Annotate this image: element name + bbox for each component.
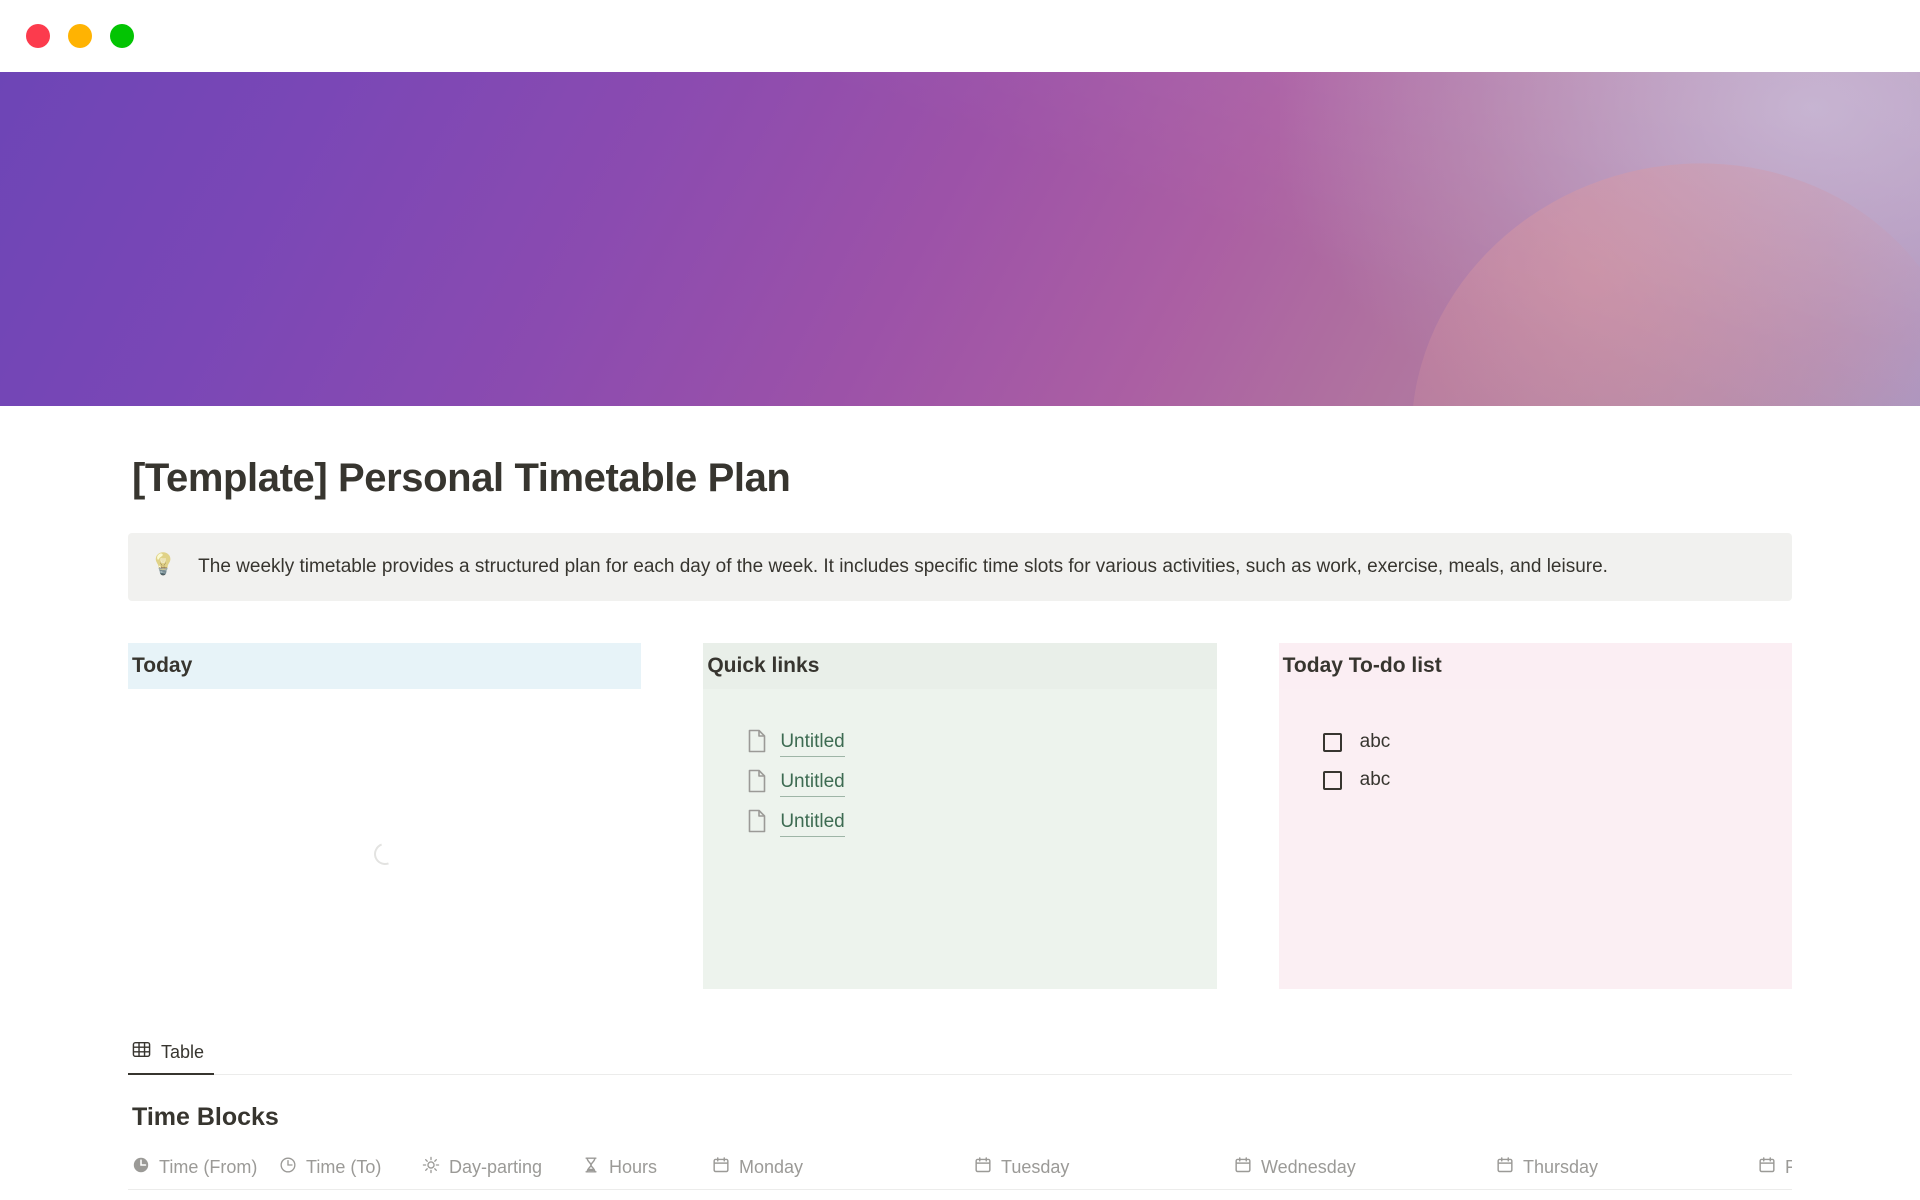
list-item-label[interactable]: Untitled bbox=[780, 810, 844, 837]
maximize-button[interactable] bbox=[110, 24, 134, 48]
calendar-icon bbox=[1758, 1156, 1776, 1179]
column-header-label: Time (From) bbox=[159, 1157, 257, 1178]
table-header-row: Time (From) Time (To) bbox=[128, 1146, 1792, 1190]
panel-todo-list-body: abc abc bbox=[1279, 689, 1792, 989]
loading-spinner-icon bbox=[370, 840, 399, 869]
calendar-icon bbox=[712, 1156, 730, 1179]
page-icon bbox=[747, 809, 767, 838]
column-header-label: Hours bbox=[609, 1157, 657, 1178]
banner-sheen bbox=[0, 72, 1920, 406]
sun-icon bbox=[422, 1156, 440, 1179]
hourglass-icon bbox=[582, 1156, 600, 1179]
column-header-thursday[interactable]: Thursday bbox=[1496, 1156, 1758, 1179]
list-item-label[interactable]: abc bbox=[1360, 769, 1391, 791]
database-tabbar: Table bbox=[128, 1033, 1792, 1075]
panel-quick-links-body: Untitled Untitled bbox=[703, 689, 1216, 989]
calendar-icon bbox=[1496, 1156, 1514, 1179]
tab-table-label: Table bbox=[161, 1042, 204, 1063]
dashboard-panels: Today Quick links bbox=[128, 643, 1792, 989]
page-cover-banner[interactable] bbox=[0, 72, 1920, 406]
lightbulb-icon: 💡 bbox=[150, 554, 176, 575]
column-header-label: Day-parting bbox=[449, 1157, 542, 1178]
column-header-label: Tuesday bbox=[1001, 1157, 1069, 1178]
page-title[interactable]: [Template] Personal Timetable Plan bbox=[128, 456, 1792, 501]
panel-today-body[interactable] bbox=[128, 689, 641, 989]
list-item[interactable]: abc bbox=[1279, 723, 1792, 761]
column-header-label: Monday bbox=[739, 1157, 803, 1178]
minimize-button[interactable] bbox=[68, 24, 92, 48]
tab-table[interactable]: Table bbox=[128, 1040, 214, 1074]
panel-today-title[interactable]: Today bbox=[128, 643, 641, 689]
calendar-icon bbox=[1234, 1156, 1252, 1179]
column-header-label: Friday bbox=[1785, 1157, 1792, 1178]
page-icon bbox=[747, 769, 767, 798]
calendar-icon bbox=[974, 1156, 992, 1179]
list-item-label[interactable]: Untitled bbox=[780, 770, 844, 797]
close-button[interactable] bbox=[26, 24, 50, 48]
list-item[interactable]: Untitled bbox=[703, 723, 1216, 763]
callout-text: The weekly timetable provides a structur… bbox=[198, 553, 1608, 581]
table-icon bbox=[132, 1040, 151, 1064]
panel-quick-links-title[interactable]: Quick links bbox=[703, 643, 1216, 689]
column-header-day-parting[interactable]: Day-parting bbox=[422, 1156, 582, 1179]
column-header-time-from[interactable]: Time (From) bbox=[132, 1156, 279, 1179]
list-item-label[interactable]: abc bbox=[1360, 731, 1391, 753]
banner-highlight-bottom-right bbox=[1356, 105, 1920, 406]
list-item[interactable]: Untitled bbox=[703, 763, 1216, 803]
column-header-wednesday[interactable]: Wednesday bbox=[1234, 1156, 1496, 1179]
checkbox[interactable] bbox=[1323, 771, 1342, 790]
banner-highlight-top-right bbox=[1280, 72, 1920, 406]
database-block: Table Time Blocks Time (From) bbox=[128, 1033, 1792, 1190]
column-header-label: Thursday bbox=[1523, 1157, 1598, 1178]
window-controls bbox=[26, 24, 134, 48]
panel-today: Today bbox=[128, 643, 641, 989]
column-header-monday[interactable]: Monday bbox=[712, 1156, 974, 1179]
column-header-label: Wednesday bbox=[1261, 1157, 1356, 1178]
page-icon bbox=[747, 729, 767, 758]
list-item[interactable]: abc bbox=[1279, 761, 1792, 799]
panel-todo-list-title[interactable]: Today To-do list bbox=[1279, 643, 1792, 689]
column-header-friday[interactable]: Friday bbox=[1758, 1156, 1792, 1179]
column-header-hours[interactable]: Hours bbox=[582, 1156, 712, 1179]
window-titlebar bbox=[0, 0, 1920, 72]
list-item[interactable]: Untitled bbox=[703, 803, 1216, 843]
column-header-tuesday[interactable]: Tuesday bbox=[974, 1156, 1234, 1179]
page-body: [Template] Personal Timetable Plan 💡 The… bbox=[0, 456, 1920, 1190]
column-header-time-to[interactable]: Time (To) bbox=[279, 1156, 422, 1179]
clock-outline-icon bbox=[279, 1156, 297, 1179]
panel-todo-list: Today To-do list abc abc bbox=[1279, 643, 1792, 989]
clock-filled-icon bbox=[132, 1156, 150, 1179]
callout-block[interactable]: 💡 The weekly timetable provides a struct… bbox=[128, 533, 1792, 601]
column-header-label: Time (To) bbox=[306, 1157, 381, 1178]
panel-quick-links: Quick links Untitled bbox=[703, 643, 1216, 989]
list-item-label[interactable]: Untitled bbox=[780, 730, 844, 757]
checkbox[interactable] bbox=[1323, 733, 1342, 752]
database-title[interactable]: Time Blocks bbox=[128, 1103, 1792, 1132]
